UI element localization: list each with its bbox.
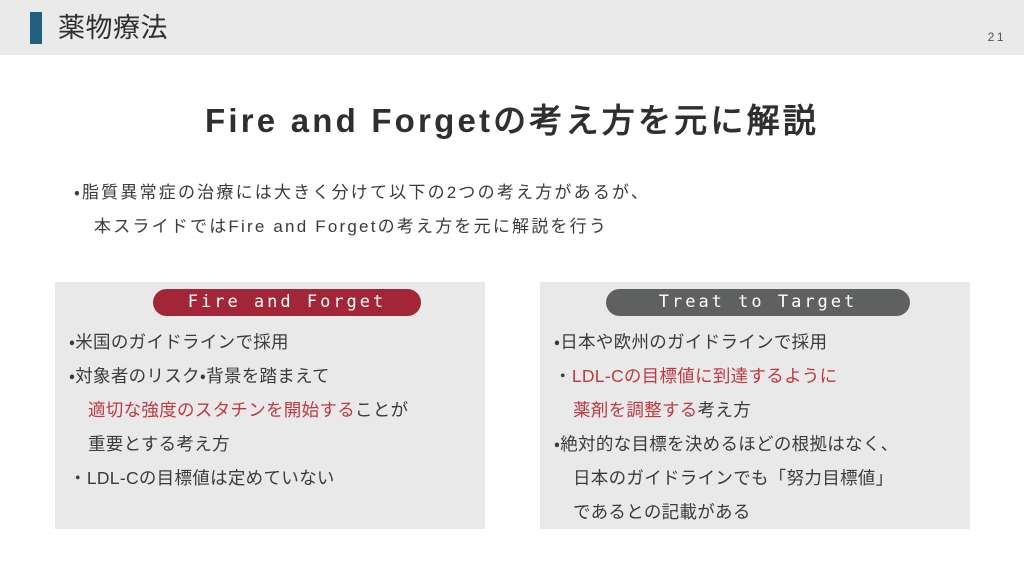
slide-header: 薬物療法 21 (0, 0, 1024, 55)
bullet-text: 絶対的な目標を決めるほどの根拠はなく、 (560, 434, 898, 454)
page-number: 21 (988, 30, 1006, 44)
bullet-text: 日本のガイドラインでも「努力目標値」 (573, 468, 893, 488)
bullet-text: 重要とする考え方 (88, 434, 230, 454)
bullet-line: ・絶対的な目標を決めるほどの根拠はなく、 (554, 427, 966, 461)
bullet-line: 重要とする考え方 (69, 427, 481, 461)
badge-treat-to-target: Treat to Target (606, 289, 910, 316)
bullet-line: 日本のガイドラインでも「努力目標値」 (554, 461, 966, 495)
panel-fire-and-forget: Fire and Forget ・米国のガイドラインで採用・対象者のリスク・背景… (55, 282, 485, 529)
badge-fire-and-forget: Fire and Forget (153, 289, 421, 316)
header-accent-bar (30, 12, 42, 44)
bullet-text: LDL-Cの目標値は定めていない (87, 468, 335, 488)
header-title: 薬物療法 (58, 8, 168, 48)
bullet-line: ・対象者のリスク・背景を踏まえて (69, 359, 481, 393)
bullet-text-emphasis: 適切な強度のスタチンを開始する (88, 400, 355, 420)
bullet-text: ことが (355, 400, 408, 420)
bullet-marker: ・ (69, 468, 87, 488)
bullet-line: 薬剤を調整する考え方 (554, 393, 966, 427)
bullet-line: ・日本や欧州のガイドラインで採用 (554, 325, 966, 359)
bullet-line: であるとの記載がある (554, 495, 966, 529)
slide-title: Fire and Forgetの考え方を元に解説 (0, 94, 1024, 142)
bullet-list-treat-to-target: ・日本や欧州のガイドラインで採用・LDL-Cの目標値に到達するように薬剤を調整す… (554, 325, 966, 529)
bullet-line: ・米国のガイドラインで採用 (69, 325, 481, 359)
intro-line-2: 本スライドではFire and Forgetの考え方を元に解説を行う (74, 210, 934, 244)
bullet-marker: ・ (554, 366, 572, 386)
bullet-text: 米国のガイドラインで採用 (75, 332, 289, 352)
bullet-text: 対象者のリスク・背景を踏まえて (75, 366, 330, 386)
bullet-line: ・LDL-Cの目標値に到達するように (554, 359, 966, 393)
bullet-list-fire-and-forget: ・米国のガイドラインで採用・対象者のリスク・背景を踏まえて適切な強度のスタチンを… (69, 325, 481, 495)
bullet-line: ・LDL-Cの目標値は定めていない (69, 461, 481, 495)
panel-treat-to-target: Treat to Target ・日本や欧州のガイドラインで採用・LDL-Cの目… (540, 282, 970, 529)
bullet-text: 考え方 (698, 400, 751, 420)
bullet-text: 日本や欧州のガイドラインで採用 (560, 332, 827, 352)
bullet-text-emphasis: 薬剤を調整する (573, 400, 698, 420)
bullet-text: であるとの記載がある (573, 502, 751, 522)
intro-line-1: ・脂質異常症の治療には大きく分けて以下の2つの考え方があるが、 (74, 183, 650, 202)
bullet-line: 適切な強度のスタチンを開始することが (69, 393, 481, 427)
intro-paragraph: ・脂質異常症の治療には大きく分けて以下の2つの考え方があるが、 本スライドではF… (74, 176, 934, 244)
bullet-text-emphasis: LDL-Cの目標値に到達するように (572, 366, 838, 386)
